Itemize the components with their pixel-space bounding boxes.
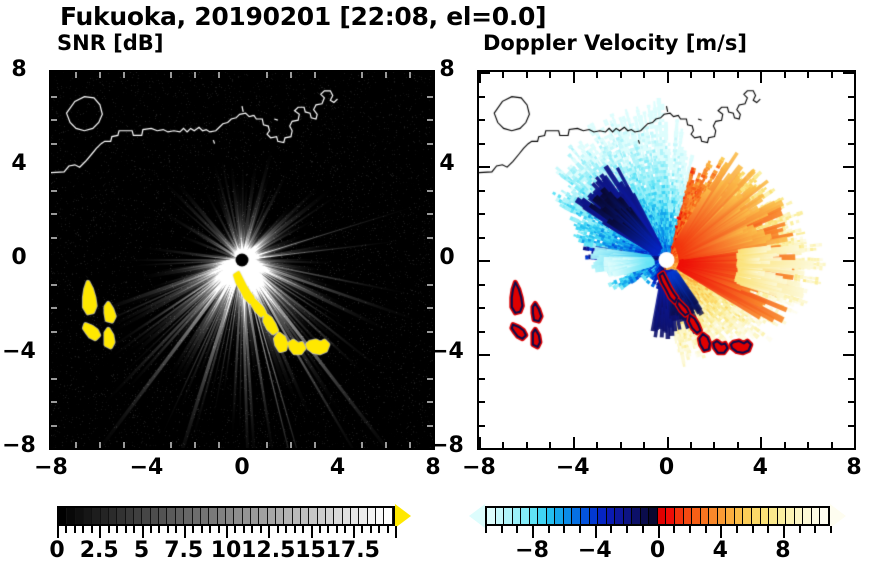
snr-colorbar-cell xyxy=(234,508,242,524)
snr-colorbar-cell xyxy=(318,508,326,524)
doppler-axis-ticks xyxy=(479,72,854,448)
snr-colorbar-cell xyxy=(76,508,84,524)
snr-ytick-1: −4 xyxy=(0,339,41,364)
snr-colorbar-tick xyxy=(302,526,304,533)
doppler-colorbar-cell xyxy=(641,508,650,524)
snr-colorbar-tick xyxy=(209,526,211,533)
doppler-colorbar-cell xyxy=(761,508,770,524)
snr-colorbar-cell xyxy=(167,508,175,524)
snr-colorbar-cell xyxy=(134,508,142,524)
dop-xtick-2: 0 xyxy=(637,455,697,480)
doppler-colorbar-cell xyxy=(530,508,539,524)
doppler-colorbar-over-arrow xyxy=(830,504,846,528)
snr-colorbar-tick xyxy=(218,526,220,533)
snr-xtick-1: −4 xyxy=(117,455,177,480)
snr-colorbar-tick xyxy=(150,526,152,533)
doppler-colorbar-tick xyxy=(595,526,597,538)
doppler-colorbar-cell xyxy=(795,508,804,524)
doppler-colorbar-tick xyxy=(814,526,816,533)
snr-colorbar-tick xyxy=(268,526,270,538)
doppler-colorbar-tick xyxy=(516,526,518,533)
doppler-colorbar-cell xyxy=(820,508,828,524)
snr-colorbar-tick xyxy=(74,526,76,533)
dop-ytick-4: 8 xyxy=(425,57,469,82)
doppler-colorbar-cell xyxy=(701,508,710,524)
snr-colorbar-cell xyxy=(384,508,392,524)
snr-colorbar-tick xyxy=(201,526,203,533)
doppler-colorbar-tick xyxy=(673,526,675,533)
snr-colorbar-tick xyxy=(82,526,84,533)
snr-colorbar-cell xyxy=(359,508,367,524)
snr-colorbar-tick xyxy=(311,526,313,538)
doppler-colorbar-cell xyxy=(709,508,718,524)
snr-colorbar-tick xyxy=(251,526,253,533)
doppler-colorbar-cell xyxy=(769,508,778,524)
snr-axis-ticks xyxy=(51,72,433,448)
snr-colorbar-cell xyxy=(351,508,359,524)
snr-colorbar-cell xyxy=(243,508,251,524)
doppler-colorbar-tick xyxy=(767,526,769,533)
snr-colorbar-cell xyxy=(226,508,234,524)
doppler-colorbar-ticks xyxy=(485,526,830,538)
snr-colorbar-tick xyxy=(353,526,355,538)
doppler-colorbar-tick xyxy=(830,526,832,533)
doppler-colorbar-cell xyxy=(564,508,573,524)
doppler-colorbar-cell xyxy=(649,508,658,524)
snr-colorbar-cell xyxy=(176,508,184,524)
snr-colorbar-tick xyxy=(277,526,279,533)
snr-colorbar-tick xyxy=(226,526,228,538)
dop-ytick-1: −4 xyxy=(425,339,469,364)
dop-xtick-1: −4 xyxy=(543,455,603,480)
doppler-colorbar-cell xyxy=(632,508,641,524)
doppler-colorbar-tick xyxy=(548,526,550,533)
snr-colorbar-cell xyxy=(276,508,284,524)
doppler-colorbar-cell xyxy=(607,508,616,524)
doppler-colorbar-cell xyxy=(786,508,795,524)
snr-ytick-3: 4 xyxy=(0,151,41,176)
doppler-colorbar-tick xyxy=(705,526,707,533)
doppler-colorbar-tick xyxy=(752,526,754,533)
snr-colorbar-tick xyxy=(57,526,59,538)
snr-colorbar-tick xyxy=(344,526,346,533)
snr-colorbar-tick xyxy=(234,526,236,533)
dop-ytick-2: 0 xyxy=(425,245,469,270)
doppler-colorbar-cell xyxy=(547,508,556,524)
doppler-colorbar-cell xyxy=(504,508,513,524)
doppler-colorbar-cell xyxy=(487,508,496,524)
snr-colorbar-tick xyxy=(184,526,186,538)
snr-colorbar-tick xyxy=(158,526,160,533)
snr-xtick-3: 4 xyxy=(308,455,368,480)
snr-colorbar-tick xyxy=(192,526,194,533)
snr-colorbar-tick xyxy=(99,526,101,538)
doppler-colorbar-tick xyxy=(532,526,534,538)
dop-ytick-0: −8 xyxy=(425,433,469,458)
doppler-colorbar-tick xyxy=(736,526,738,533)
snr-colorbar-tick xyxy=(327,526,329,533)
snr-colorbar-tick xyxy=(175,526,177,533)
snr-colorbar-cell xyxy=(376,508,384,524)
doppler-colorbar-cell xyxy=(615,508,624,524)
snr-colorbar-cell xyxy=(259,508,267,524)
snr-colorbar-tick xyxy=(294,526,296,533)
snr-colorbar-tick xyxy=(116,526,118,533)
snr-xtick-0: −8 xyxy=(21,455,81,480)
snr-colorbar-cell xyxy=(301,508,309,524)
doppler-colorbar-cell xyxy=(581,508,590,524)
doppler-colorbar-cell xyxy=(513,508,522,524)
snr-colorbar-cell xyxy=(268,508,276,524)
doppler-colorbar-tick xyxy=(485,526,487,533)
doppler-colorbar-cell xyxy=(658,508,667,524)
snr-colorbar-label-7: 17.5 xyxy=(323,538,383,563)
doppler-colorbar-cell xyxy=(572,508,581,524)
snr-colorbar-tick xyxy=(142,526,144,538)
doppler-panel-title: Doppler Velocity [m/s] xyxy=(483,31,747,55)
snr-colorbar-cell xyxy=(142,508,150,524)
snr-colorbar-tick xyxy=(167,526,169,533)
doppler-colorbar-tick xyxy=(610,526,612,533)
snr-colorbar-tick xyxy=(395,526,397,538)
snr-colorbar-tick xyxy=(108,526,110,533)
doppler-colorbar-tick xyxy=(799,526,801,533)
snr-colorbar-cell xyxy=(251,508,259,524)
snr-colorbar-cell xyxy=(193,508,201,524)
doppler-colorbar-cell xyxy=(684,508,693,524)
snr-colorbar-cell xyxy=(284,508,292,524)
doppler-colorbar-label-4: 8 xyxy=(753,538,813,563)
dop-ytick-3: 4 xyxy=(425,151,469,176)
snr-colorbar-tick xyxy=(378,526,380,533)
doppler-colorbar-cell xyxy=(598,508,607,524)
doppler-colorbar-cell xyxy=(735,508,744,524)
doppler-colorbar-cell xyxy=(803,508,812,524)
doppler-colorbar-tick xyxy=(642,526,644,533)
doppler-colorbar-cell xyxy=(666,508,675,524)
snr-colorbar-ticks xyxy=(57,526,395,538)
snr-colorbar-cell xyxy=(117,508,125,524)
snr-colorbar-cell xyxy=(151,508,159,524)
snr-colorbar-cell xyxy=(159,508,167,524)
doppler-plot-panel[interactable] xyxy=(477,70,856,450)
snr-colorbar[interactable] xyxy=(57,506,395,526)
snr-ytick-0: −8 xyxy=(0,433,41,458)
doppler-colorbar-cell xyxy=(692,508,701,524)
doppler-colorbar-tick xyxy=(563,526,565,533)
snr-colorbar-cell xyxy=(218,508,226,524)
doppler-colorbar-cell xyxy=(778,508,787,524)
snr-colorbar-cell xyxy=(201,508,209,524)
dop-xtick-0: −8 xyxy=(449,455,509,480)
doppler-colorbar-cell xyxy=(496,508,505,524)
snr-panel-title: SNR [dB] xyxy=(57,31,163,55)
snr-colorbar-cell xyxy=(343,508,351,524)
snr-colorbar-tick xyxy=(387,526,389,533)
doppler-colorbar-cell xyxy=(624,508,633,524)
snr-colorbar-cell xyxy=(326,508,334,524)
snr-colorbar-tick xyxy=(370,526,372,533)
doppler-colorbar-tick xyxy=(720,526,722,538)
doppler-colorbar-cell xyxy=(538,508,547,524)
snr-plot-panel[interactable] xyxy=(49,70,435,450)
doppler-colorbar[interactable] xyxy=(485,506,830,526)
snr-xtick-2: 0 xyxy=(212,455,272,480)
snr-colorbar-cell xyxy=(59,508,67,524)
doppler-colorbar-tick xyxy=(658,526,660,538)
snr-colorbar-cell xyxy=(368,508,376,524)
doppler-colorbar-cell xyxy=(718,508,727,524)
snr-colorbar-cell xyxy=(184,508,192,524)
doppler-colorbar-tick xyxy=(501,526,503,533)
snr-colorbar-cell xyxy=(126,508,134,524)
doppler-colorbar-tick xyxy=(579,526,581,533)
doppler-colorbar-tick xyxy=(626,526,628,533)
doppler-colorbar-label-3: 4 xyxy=(690,538,750,563)
page-title: Fukuoka, 20190201 [22:08, el=0.0] xyxy=(60,2,546,31)
snr-colorbar-tick xyxy=(133,526,135,533)
doppler-colorbar-cell xyxy=(521,508,530,524)
doppler-colorbar-label-2: 0 xyxy=(628,538,688,563)
doppler-colorbar-under-arrow xyxy=(469,504,485,528)
doppler-colorbar-cell xyxy=(726,508,735,524)
doppler-colorbar-cell xyxy=(752,508,761,524)
snr-colorbar-cell xyxy=(309,508,317,524)
snr-ytick-4: 8 xyxy=(0,57,41,82)
dop-xtick-3: 4 xyxy=(730,455,790,480)
snr-colorbar-gradient xyxy=(57,506,395,526)
snr-colorbar-cell xyxy=(334,508,342,524)
snr-colorbar-cell xyxy=(109,508,117,524)
snr-colorbar-tick xyxy=(91,526,93,533)
snr-colorbar-cell xyxy=(84,508,92,524)
doppler-colorbar-cell xyxy=(555,508,564,524)
snr-colorbar-tick xyxy=(65,526,67,533)
snr-colorbar-tick xyxy=(361,526,363,533)
snr-colorbar-tick xyxy=(260,526,262,533)
snr-colorbar-cell xyxy=(293,508,301,524)
dop-xtick-4: 8 xyxy=(824,455,870,480)
snr-colorbar-tick xyxy=(125,526,127,533)
snr-ytick-2: 0 xyxy=(0,245,41,270)
snr-colorbar-tick xyxy=(336,526,338,533)
snr-colorbar-cell xyxy=(209,508,217,524)
doppler-colorbar-cell xyxy=(590,508,599,524)
doppler-colorbar-cell xyxy=(675,508,684,524)
doppler-colorbar-label-0: −8 xyxy=(502,538,562,563)
snr-colorbar-tick xyxy=(243,526,245,533)
doppler-colorbar-label-1: −4 xyxy=(565,538,625,563)
snr-colorbar-cell xyxy=(101,508,109,524)
doppler-colorbar-tick xyxy=(689,526,691,533)
doppler-colorbar-gradient xyxy=(485,506,830,526)
doppler-colorbar-cell xyxy=(743,508,752,524)
snr-colorbar-cell xyxy=(92,508,100,524)
snr-colorbar-tick xyxy=(285,526,287,533)
doppler-colorbar-cell xyxy=(812,508,821,524)
doppler-colorbar-tick xyxy=(783,526,785,538)
snr-colorbar-over-arrow xyxy=(395,504,411,528)
snr-colorbar-tick xyxy=(319,526,321,533)
snr-colorbar-cell xyxy=(67,508,75,524)
